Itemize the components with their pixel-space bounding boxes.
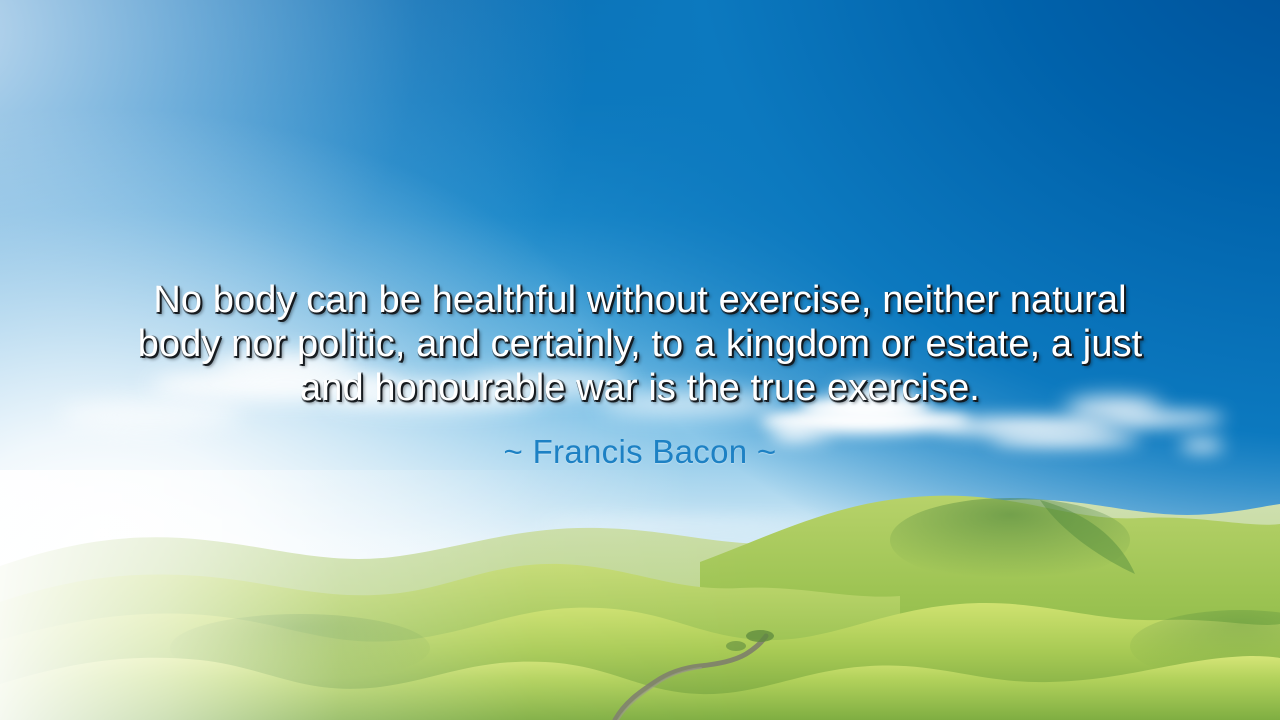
rolling-hills-landscape [0, 470, 1280, 720]
quote-text: No body can be healthful without exercis… [120, 278, 1160, 410]
haze-overlay [0, 470, 760, 720]
quote-block: No body can be healthful without exercis… [0, 278, 1280, 472]
quote-attribution: ~ Francis Bacon ~ [60, 432, 1220, 472]
quote-card-screen: No body can be healthful without exercis… [0, 0, 1280, 720]
